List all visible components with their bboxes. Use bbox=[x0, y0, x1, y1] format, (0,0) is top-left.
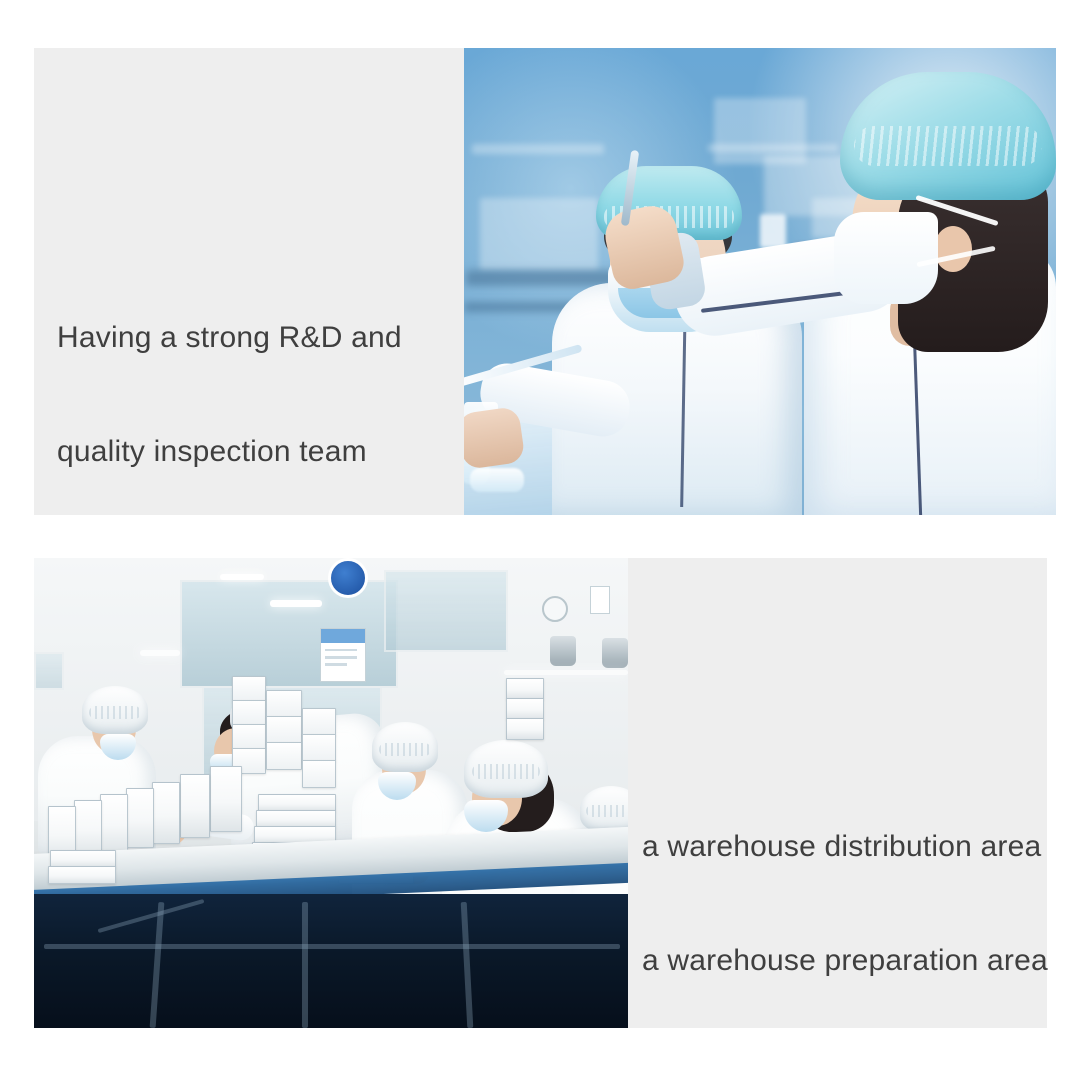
box-upright-4 bbox=[126, 788, 154, 848]
surgical-mask-right bbox=[834, 212, 938, 304]
warehouse-packing-photo: Workers in white coats and hairnets pack… bbox=[34, 558, 628, 1028]
wall-vent bbox=[34, 652, 64, 690]
lab-shelf-edge bbox=[472, 144, 604, 154]
top-caption: Having a strong R&D and quality inspecti… bbox=[57, 243, 402, 547]
steel-pot-2 bbox=[602, 638, 628, 668]
ceiling-light-3 bbox=[140, 650, 180, 656]
lab-worker-left bbox=[552, 166, 802, 515]
top-caption-line-2: quality inspection team bbox=[57, 433, 402, 471]
notice-line-2 bbox=[325, 656, 357, 659]
small-wall-card bbox=[590, 586, 610, 614]
box-stack-back-2 bbox=[232, 700, 266, 726]
hairnet-cap-right bbox=[840, 72, 1056, 200]
box-upright-5 bbox=[100, 794, 128, 852]
notice-line-3 bbox=[325, 663, 347, 666]
warehouse-worker-5-hairnet bbox=[580, 786, 628, 832]
box-stack-back-8 bbox=[302, 708, 336, 736]
wall-clock bbox=[542, 596, 568, 622]
ceiling-light-2 bbox=[270, 600, 322, 607]
table-leg-2 bbox=[302, 902, 308, 1028]
notice-line-1 bbox=[325, 649, 357, 652]
table-crossbar bbox=[44, 944, 620, 949]
lab-wall-panel bbox=[714, 98, 806, 164]
box-front-2 bbox=[48, 866, 116, 884]
lab-quality-inspection-photo: Two laboratory technicians wearing blue … bbox=[464, 48, 1056, 515]
box-stack-back-3 bbox=[232, 724, 266, 750]
notice-header bbox=[321, 629, 365, 643]
bottom-caption-line-2: a warehouse preparation area bbox=[642, 942, 1048, 980]
box-stack-back-6 bbox=[266, 716, 302, 744]
steel-pot-1 bbox=[550, 636, 576, 666]
box-upright-1 bbox=[210, 766, 242, 832]
box-stack-back-5 bbox=[266, 690, 302, 718]
top-caption-line-1: Having a strong R&D and bbox=[57, 319, 402, 357]
bottom-caption: a warehouse distribution area a warehous… bbox=[642, 752, 1048, 1056]
box-stack-back-1 bbox=[232, 676, 266, 702]
collage-stage: Having a strong R&D and quality inspecti… bbox=[0, 0, 1080, 1080]
box-upright-6 bbox=[74, 800, 102, 856]
back-counter-edge bbox=[504, 670, 628, 675]
box-stack-back-7 bbox=[266, 742, 302, 770]
bottom-caption-line-1: a warehouse distribution area bbox=[642, 828, 1048, 866]
warehouse-worker-3-hairnet bbox=[372, 722, 438, 772]
ceiling-light-1 bbox=[220, 574, 264, 580]
under-table-shadow bbox=[34, 894, 628, 1028]
box-rear-stack-2 bbox=[506, 698, 544, 720]
warehouse-worker-4-hairnet bbox=[464, 740, 548, 798]
wall-notice-board bbox=[320, 628, 366, 682]
box-upright-3 bbox=[152, 782, 180, 844]
box-rear-stack-1 bbox=[506, 678, 544, 700]
warehouse-worker-1-hairnet bbox=[82, 686, 148, 734]
box-upright-2 bbox=[180, 774, 210, 838]
blue-circular-sign bbox=[328, 558, 368, 598]
box-stack-back-10 bbox=[302, 760, 336, 788]
box-rear-stack-3 bbox=[506, 718, 544, 740]
lab-dish bbox=[470, 468, 524, 492]
box-stack-back-9 bbox=[302, 734, 336, 762]
lab-worker-right bbox=[794, 58, 1056, 515]
glass-partition-right bbox=[384, 570, 508, 652]
ear-right bbox=[934, 226, 972, 272]
